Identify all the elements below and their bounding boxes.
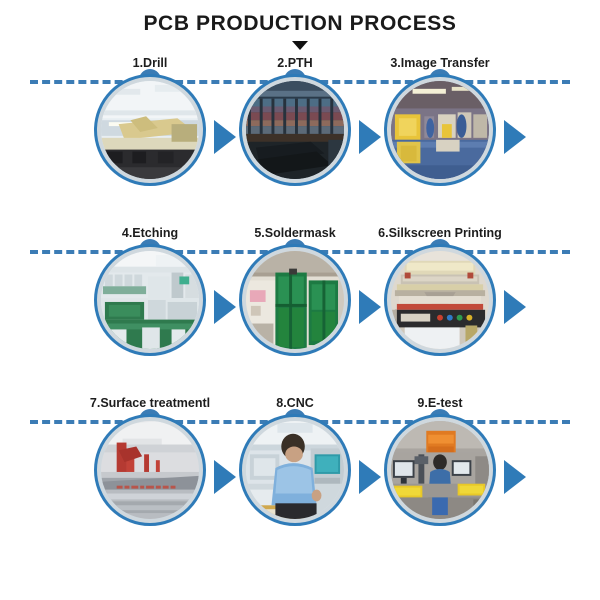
photo-ring — [94, 414, 206, 526]
step-photo-8[interactable] — [239, 414, 351, 526]
flow-arrow-icon — [359, 290, 381, 324]
pth-plating-line-photo — [246, 81, 344, 179]
soldermask-oven-photo — [246, 251, 344, 349]
etching-line-photo — [101, 251, 199, 349]
step-label-8: 8.CNC — [276, 396, 314, 410]
flow-arrow-icon — [504, 120, 526, 154]
photo-ring — [239, 414, 351, 526]
step-label-3: 3.Image Transfer — [390, 56, 489, 70]
process-row: 1.Drill 2.PTH 3.Image Transfer 1 2 3 — [0, 56, 600, 226]
photo-ring — [384, 244, 496, 356]
step-label-5: 5.Soldermask — [254, 226, 335, 240]
page-title: PCB PRODUCTION PROCESS — [0, 12, 600, 35]
photo-layer — [0, 414, 600, 534]
step-photo-6[interactable] — [384, 244, 496, 356]
step-label-4: 4.Etching — [122, 226, 178, 240]
step-photo-3[interactable] — [384, 74, 496, 186]
flow-arrow-icon — [214, 460, 236, 494]
photo-layer — [0, 74, 600, 194]
step-photo-5[interactable] — [239, 244, 351, 356]
header: PCB PRODUCTION PROCESS — [0, 0, 600, 50]
flow-arrow-icon — [359, 120, 381, 154]
photo-ring — [384, 414, 496, 526]
photo-layer — [0, 244, 600, 364]
photo-ring — [384, 74, 496, 186]
photo-ring — [94, 74, 206, 186]
triangle-down-icon — [292, 41, 308, 50]
photo-ring — [239, 244, 351, 356]
step-photo-1[interactable] — [94, 74, 206, 186]
step-label-7: 7.Surface treatmentl — [90, 396, 210, 410]
surface-treatment-line-photo — [101, 421, 199, 519]
cnc-operator-photo — [246, 421, 344, 519]
drill-machine-photo — [101, 81, 199, 179]
step-label-9: 9.E-test — [417, 396, 462, 410]
image-transfer-cleanroom-photo — [391, 81, 489, 179]
step-photo-9[interactable] — [384, 414, 496, 526]
flow-arrow-icon — [504, 290, 526, 324]
process-row: 4.Etching 5.Soldermask 6.Silkscreen Prin… — [0, 226, 600, 396]
photo-ring — [239, 74, 351, 186]
flow-arrow-icon — [214, 290, 236, 324]
step-photo-4[interactable] — [94, 244, 206, 356]
flow-arrow-icon — [359, 460, 381, 494]
flow-arrow-icon — [504, 460, 526, 494]
photo-ring — [94, 244, 206, 356]
step-label-2: 2.PTH — [277, 56, 312, 70]
process-row: 7.Surface treatmentl 8.CNC 9.E-test 7 8 … — [0, 396, 600, 566]
step-label-6: 6.Silkscreen Printing — [378, 226, 502, 240]
flow-arrow-icon — [214, 120, 236, 154]
e-test-lab-photo — [391, 421, 489, 519]
step-photo-7[interactable] — [94, 414, 206, 526]
silkscreen-printer-photo — [391, 251, 489, 349]
step-label-1: 1.Drill — [133, 56, 168, 70]
process-flow: 1.Drill 2.PTH 3.Image Transfer 1 2 3 — [0, 56, 600, 566]
step-photo-2[interactable] — [239, 74, 351, 186]
